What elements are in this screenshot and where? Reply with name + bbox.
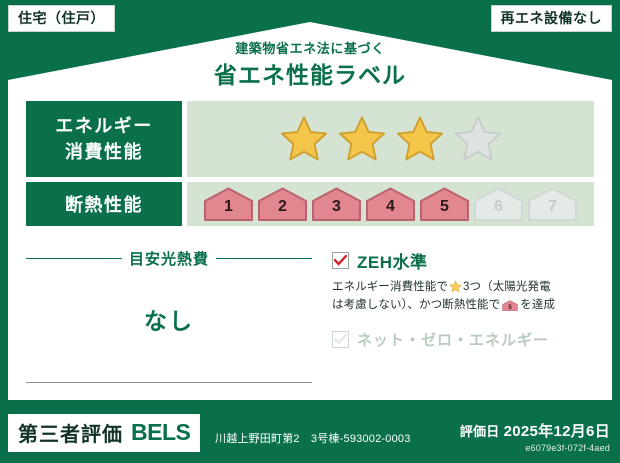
- inline-star-icon: [449, 280, 462, 293]
- rule-left: [26, 258, 122, 259]
- zeh-desc-part2: は考慮しない）、かつ断熱性能で: [332, 299, 500, 311]
- building-type-tag: 住宅（住戸）: [8, 5, 115, 32]
- utility-cost-title: 目安光熱費: [129, 248, 209, 269]
- insulation-performance-row: 断熱性能 1234567: [26, 182, 594, 226]
- inline-grade-badge: 5: [502, 299, 518, 319]
- insulation-grade-number: 5: [440, 198, 449, 221]
- label-uid: e6079e3f-072f-4aed: [460, 443, 610, 453]
- rule-right: [216, 258, 312, 259]
- energy-label-line2: 消費性能: [65, 139, 143, 165]
- insulation-grade-number: 1: [224, 198, 233, 221]
- check-icon: [334, 255, 347, 266]
- insulation-grade-6: 6: [473, 187, 524, 221]
- evaluation-date: 評価日2025年12月6日: [460, 420, 610, 441]
- zeh-section: ZEH水準 エネルギー消費性能で3つ（太陽光発電 は考慮しない）、かつ断熱性能で…: [332, 248, 594, 350]
- title-subtitle: 建築物省エネ法に基づく: [0, 38, 620, 57]
- star-empty-icon: [452, 114, 504, 164]
- star-rating: [278, 114, 504, 164]
- utility-cost-heading: 目安光熱費: [26, 248, 312, 269]
- utility-cost-value: なし: [26, 302, 312, 336]
- insulation-label: 断熱性能: [65, 191, 143, 217]
- inline-house-icon: 5: [502, 299, 518, 312]
- insulation-grade-number: 4: [386, 198, 395, 221]
- insulation-grade-4: 4: [365, 187, 416, 221]
- insulation-grade-3: 3: [311, 187, 362, 221]
- renewable-equipment-tag: 再エネ設備なし: [491, 5, 613, 32]
- insulation-grade-5: 5: [419, 187, 470, 221]
- third-party-eval-label: 第三者評価: [18, 418, 123, 447]
- evaluation-date-value: 2025年12月6日: [504, 423, 610, 440]
- bels-logo: BELS: [131, 419, 190, 446]
- insulation-grade-number: 6: [494, 198, 503, 221]
- insulation-grade-scale: 1234567: [203, 187, 578, 221]
- energy-label-line1: エネルギー: [55, 113, 153, 139]
- zeh-title-row: ZEH水準: [332, 248, 594, 273]
- bels-energy-label: 住宅（住戸） 再エネ設備なし 建築物省エネ法に基づく 省エネ性能ラベル エネルギ…: [0, 0, 620, 463]
- net-zero-energy-checkbox[interactable]: [332, 331, 349, 348]
- zeh-desc-stars: 3つ（太陽光発電: [463, 281, 551, 293]
- check-icon-disabled: [334, 334, 347, 345]
- energy-performance-row: エネルギー 消費性能: [26, 101, 594, 177]
- performance-rows: エネルギー 消費性能 断熱性能 1234567: [26, 101, 594, 231]
- footer-bar: 第三者評価 BELS 川越上野田町第2 3号棟-593002-0003 評価日2…: [0, 408, 620, 463]
- property-address: 川越上野田町第2 3号棟-593002-0003: [215, 430, 411, 446]
- star-filled-icon: [394, 114, 446, 164]
- insulation-grade-2: 2: [257, 187, 308, 221]
- evaluation-date-label: 評価日: [460, 424, 500, 439]
- insulation-grade-number: 2: [278, 198, 287, 221]
- insulation-grade-1: 1: [203, 187, 254, 221]
- page-title: 省エネ性能ラベル: [0, 56, 620, 90]
- utility-cost-section: 目安光熱費 なし: [26, 248, 312, 383]
- zeh-desc-part3: を達成: [520, 299, 555, 311]
- zeh-checkbox[interactable]: [332, 252, 349, 269]
- net-zero-energy-row: ネット・ゼロ・エネルギー: [332, 329, 594, 350]
- insulation-grade-number: 7: [548, 198, 557, 221]
- star-filled-icon: [278, 114, 330, 164]
- insulation-performance-key: 断熱性能: [26, 182, 182, 226]
- zeh-desc-part1: エネルギー消費性能で: [332, 281, 448, 293]
- bels-badge: 第三者評価 BELS: [8, 414, 200, 452]
- cost-divider: [26, 382, 312, 383]
- zeh-description: エネルギー消費性能で3つ（太陽光発電 は考慮しない）、かつ断熱性能で5を達成: [332, 279, 594, 319]
- zeh-title: ZEH水準: [357, 248, 428, 273]
- energy-performance-key: エネルギー 消費性能: [26, 101, 182, 177]
- insulation-performance-value: 1234567: [187, 182, 594, 226]
- net-zero-energy-label: ネット・ゼロ・エネルギー: [357, 329, 549, 350]
- energy-performance-value: [187, 101, 594, 177]
- evaluation-date-block: 評価日2025年12月6日 e6079e3f-072f-4aed: [460, 420, 610, 453]
- insulation-grade-number: 3: [332, 198, 341, 221]
- insulation-grade-7: 7: [527, 187, 578, 221]
- star-filled-icon: [336, 114, 388, 164]
